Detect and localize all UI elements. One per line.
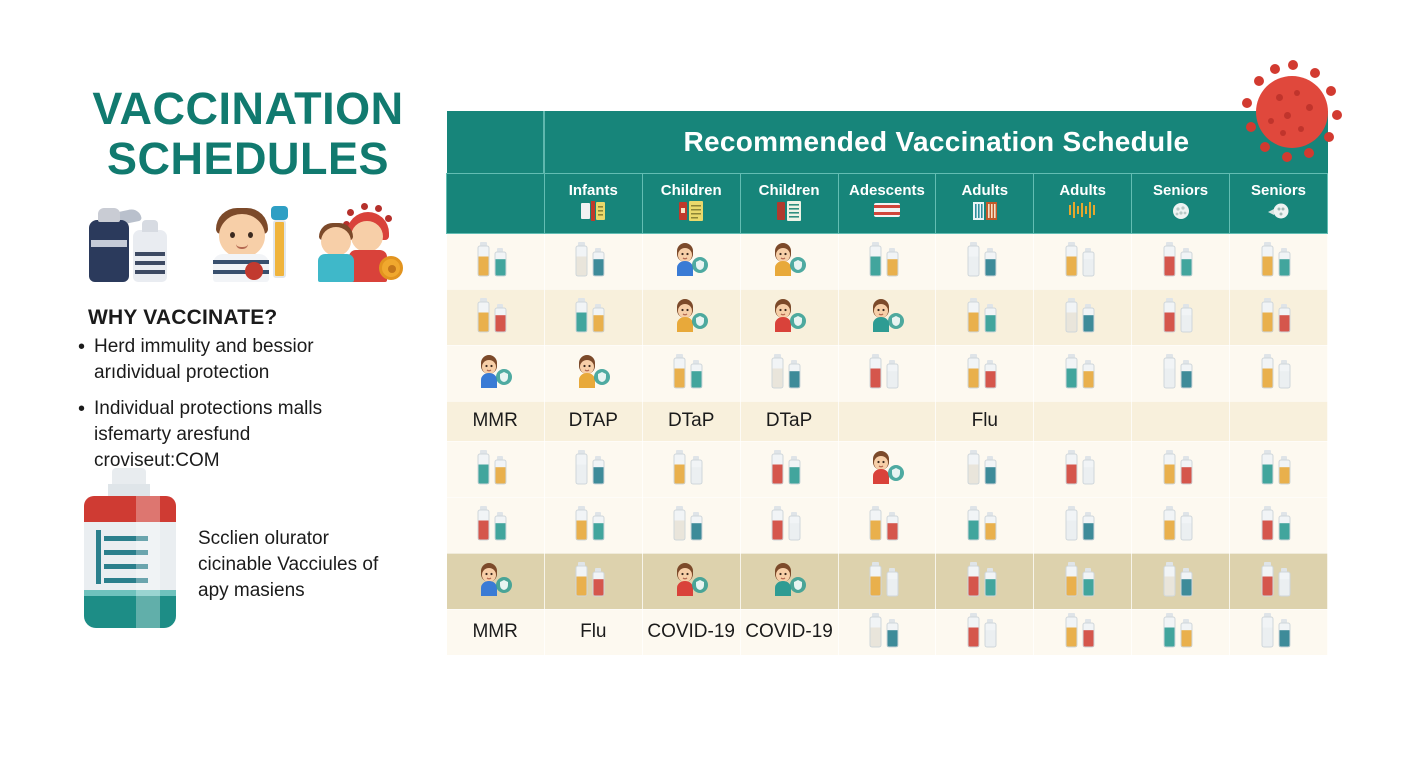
vial-pair-icon (965, 295, 1005, 335)
nurse-vial-icon[interactable] (642, 553, 740, 609)
coronavirus-icon (1240, 60, 1344, 164)
row-label-cell[interactable]: MMR (447, 609, 545, 655)
vial-pair-icon (1063, 351, 1103, 391)
vaccine-name-cell[interactable] (1132, 401, 1230, 441)
vial-pair-icon (867, 610, 907, 650)
vial-virus-icon[interactable] (1034, 609, 1132, 655)
vial-box-icon[interactable] (936, 497, 1034, 553)
vial-pair-icon[interactable] (838, 553, 936, 609)
vial-pair-icon (1161, 610, 1201, 650)
vaccination-schedule-table: Recommended Vaccination Schedule Infants… (446, 111, 1328, 656)
vial-leaf-icon (965, 447, 1005, 487)
vial-pair-icon[interactable] (936, 553, 1034, 609)
column-header-adults-1[interactable]: Adults (936, 173, 1034, 233)
child-drinking-icon[interactable] (447, 345, 545, 401)
column-header-label: Adescents (839, 183, 936, 198)
vaccine-name-cell[interactable] (1034, 401, 1132, 441)
table-row (447, 553, 1328, 609)
ribbon-vial-icon[interactable] (642, 441, 740, 497)
column-header-adescents[interactable]: Adescents (838, 173, 936, 233)
column-header-infants[interactable]: Infants (544, 173, 642, 233)
table-row (447, 441, 1328, 497)
bottle-shield-icon[interactable] (544, 553, 642, 609)
hero-illustrations (85, 196, 375, 282)
vial-pair-icon (1063, 503, 1103, 543)
vaccine-name-cell[interactable]: DTaP (740, 401, 838, 441)
table-row (447, 497, 1328, 553)
vial-shield-icon[interactable] (1132, 441, 1230, 497)
vial-pair-icon[interactable] (1132, 609, 1230, 655)
column-header-children-2[interactable]: Children (740, 173, 838, 233)
vial-pair-icon[interactable] (838, 233, 936, 289)
vial-virus-icon (1063, 610, 1103, 650)
baby-shield-icon[interactable] (544, 345, 642, 401)
why-vaccinate-list: • Herd immulity and bessior arıdividual … (78, 334, 378, 484)
table-header-row: Infants Children Children Adescents (447, 173, 1328, 233)
bandage-icon (839, 201, 936, 223)
vial-virus-icon (965, 239, 1005, 279)
table-banner-title: Recommended Vaccination Schedule (544, 111, 1327, 173)
vial-pair-icon[interactable] (1230, 345, 1328, 401)
vial-pair-icon (867, 351, 907, 391)
table-body: MMRDTAPDTaPDTaPFluMMRFluCOVID-19COVID-19 (447, 233, 1328, 655)
vial-pair-icon[interactable] (936, 609, 1034, 655)
row-label-cell[interactable]: MMR (447, 401, 545, 441)
banner-blank-cell (447, 111, 545, 173)
nurse-vial-icon (671, 559, 711, 599)
left-panel: VACCINATION SCHEDULES (0, 0, 446, 768)
list-item-text: Individual protectionѕ malls isfemarty a… (94, 396, 378, 474)
pouch-shield-icon (475, 503, 515, 543)
child-shield-icon (671, 239, 711, 279)
vaccine-name-cell[interactable]: Flu (936, 401, 1034, 441)
nurse-vial-icon[interactable] (740, 553, 838, 609)
vaccine-vial-icon (78, 468, 182, 630)
virus-cell-icon (1132, 201, 1229, 223)
vial-heart-icon (965, 351, 1005, 391)
page-title-line-2: SCHEDULES (78, 134, 418, 184)
nurse-vial-icon (769, 559, 809, 599)
vial-pair-icon[interactable] (1230, 441, 1328, 497)
vial-pair-icon[interactable] (447, 289, 545, 345)
bottle-shield-icon[interactable] (838, 497, 936, 553)
child-shield-icon (475, 559, 515, 599)
vial-pair-icon (1063, 295, 1103, 335)
vial-pair-icon[interactable] (740, 345, 838, 401)
vial-pair-icon (1063, 239, 1103, 279)
pulse-wave-icon (1034, 201, 1131, 223)
bottle-shield-icon[interactable] (642, 345, 740, 401)
list-item-text: Herd immulity and bessior arıdividual pr… (94, 334, 378, 386)
virus-cell-icon (1230, 201, 1327, 223)
boy-with-chart-icon[interactable] (642, 289, 740, 345)
bottle-shield-icon (769, 447, 809, 487)
dropper-lemon-icon (573, 447, 613, 487)
boy-with-syringe-illustration (203, 202, 299, 282)
vial-shield-icon[interactable] (1034, 553, 1132, 609)
vial-pair-icon (965, 610, 1005, 650)
vaccine-name-cell[interactable]: DTAP (544, 401, 642, 441)
column-header-adults-2[interactable]: Adults (1034, 173, 1132, 233)
infographic-canvas: VACCINATION SCHEDULES (0, 0, 1408, 768)
vial-pair-icon[interactable] (1132, 289, 1230, 345)
ribbon-vial-icon (671, 447, 711, 487)
bottle-shield-icon[interactable] (740, 441, 838, 497)
list-item: • Herd immulity and bessior arıdividual … (78, 334, 378, 386)
vial-shield-icon (1161, 447, 1201, 487)
vial-pair-icon (1259, 447, 1299, 487)
vial-pair-icon (1161, 559, 1201, 599)
vial-pair-icon[interactable] (1230, 233, 1328, 289)
column-header-seniors-1[interactable]: Seniors (1132, 173, 1230, 233)
bottle-shield-icon[interactable] (544, 497, 642, 553)
page-title-line-1: VACCINATION (92, 83, 403, 134)
dropper-bottle-icon[interactable] (544, 289, 642, 345)
vial-virus-icon[interactable] (936, 233, 1034, 289)
vaccine-name-cell[interactable]: COVID-19 (740, 609, 838, 655)
vial-pair-icon[interactable] (447, 233, 545, 289)
column-header-label: Adults (1034, 183, 1131, 198)
column-header-label: Seniors (1230, 183, 1327, 198)
vial-pair-icon[interactable] (1230, 497, 1328, 553)
vial-pair-icon[interactable] (1230, 609, 1328, 655)
why-vaccinate-heading: WHY VACCINATE? (88, 306, 277, 330)
vial-pair-icon (1161, 351, 1201, 391)
column-header-children-1[interactable]: Children (642, 173, 740, 233)
bottle-shield-icon (573, 559, 613, 599)
vial-pair-icon (1063, 447, 1103, 487)
vaccine-name-cell[interactable]: DTaP (642, 401, 740, 441)
bottle-shield-icon[interactable] (642, 497, 740, 553)
record-book-icon (741, 201, 838, 223)
vial-pair-icon[interactable] (1034, 497, 1132, 553)
person-shield-icon (867, 447, 907, 487)
table-row (447, 289, 1328, 345)
bottle-shield-icon (671, 503, 711, 543)
vial-shield-icon (1063, 559, 1103, 599)
vial-pair-icon[interactable] (1230, 553, 1328, 609)
table-row: MMRDTAPDTaPDTaPFlu (447, 401, 1328, 441)
column-header-label: Seniors (1132, 183, 1229, 198)
pouch-shield-icon[interactable] (447, 497, 545, 553)
dropper-lemon-icon[interactable] (544, 441, 642, 497)
column-header-label: Infants (545, 183, 642, 198)
list-item: • Individual protectionѕ malls isfemarty… (78, 396, 378, 474)
woman-shield-icon (867, 295, 907, 335)
vial-pair-icon[interactable] (1230, 289, 1328, 345)
child-drinking-icon (475, 351, 515, 391)
vial-pair-icon[interactable] (1132, 345, 1230, 401)
vial-pair-icon (965, 559, 1005, 599)
medicine-box-icon (475, 447, 515, 487)
person-shield-icon[interactable] (838, 441, 936, 497)
vaccine-name-cell[interactable]: COVID-19 (642, 609, 740, 655)
woman-shield-icon[interactable] (838, 289, 936, 345)
vial-pair-icon (1161, 239, 1201, 279)
syringe-vial-icon[interactable] (544, 233, 642, 289)
vial-pair-icon (1259, 559, 1299, 599)
record-book-icon (643, 201, 740, 223)
child-shield-icon[interactable] (447, 553, 545, 609)
vial-pair-icon[interactable] (1034, 441, 1132, 497)
bottle-shield-icon (769, 503, 809, 543)
syringe-vial-icon (573, 239, 613, 279)
children-with-virus-illustration (317, 202, 405, 282)
boy-with-chart-icon (671, 295, 711, 335)
vial-pair-icon (867, 239, 907, 279)
vial-pair-icon[interactable] (1132, 497, 1230, 553)
header-corner-cell (447, 173, 545, 233)
vial-pair-icon (1259, 239, 1299, 279)
vial-pair-icon[interactable] (1034, 345, 1132, 401)
vial-leaf-icon[interactable] (936, 441, 1034, 497)
chart-bars-icon (936, 201, 1033, 223)
medicine-box-icon[interactable] (447, 441, 545, 497)
page-title: VACCINATION SCHEDULES (78, 84, 418, 183)
column-header-label: Children (741, 183, 838, 198)
vial-pair-icon (769, 351, 809, 391)
bottle-shield-icon[interactable] (740, 497, 838, 553)
vaccine-name-cell[interactable]: Flu (544, 609, 642, 655)
vial-pair-icon[interactable] (838, 609, 936, 655)
vial-heart-icon[interactable] (936, 345, 1034, 401)
bullet-icon: • (78, 396, 94, 474)
column-header-label: Children (643, 183, 740, 198)
vial-pair-icon[interactable] (1132, 233, 1230, 289)
vial-pair-icon[interactable] (936, 289, 1034, 345)
table-row (447, 233, 1328, 289)
baby-shield-icon (573, 351, 613, 391)
bullet-icon: • (78, 334, 94, 386)
bottle-shield-icon (671, 351, 711, 391)
child-shield-icon[interactable] (642, 233, 740, 289)
table-row: MMRFluCOVID-19COVID-19 (447, 609, 1328, 655)
vial-pair-icon (1259, 610, 1299, 650)
vaccine-name-cell[interactable] (1230, 401, 1328, 441)
bottle-shield-icon (867, 503, 907, 543)
table-row (447, 345, 1328, 401)
vial-pair-icon (867, 559, 907, 599)
vial-pair-icon (1259, 351, 1299, 391)
vial-pair-icon[interactable] (1132, 553, 1230, 609)
vial-pair-icon[interactable] (1034, 233, 1132, 289)
child-shield-icon[interactable] (740, 233, 838, 289)
girl-with-vial-icon[interactable] (740, 289, 838, 345)
bottle-shield-icon (573, 503, 613, 543)
column-header-label: Adults (936, 183, 1033, 198)
vaccine-name-cell[interactable] (838, 401, 936, 441)
vaccine-card-icon (545, 201, 642, 223)
table-banner-row: Recommended Vaccination Schedule (447, 111, 1328, 173)
vial-pair-icon[interactable] (838, 345, 936, 401)
child-shield-icon (769, 239, 809, 279)
vial-pair-icon (1161, 503, 1201, 543)
vial-pair-icon (1161, 295, 1201, 335)
vial-pair-icon[interactable] (1034, 289, 1132, 345)
vial-pair-icon (1259, 503, 1299, 543)
vial-pair-icon (1259, 295, 1299, 335)
girl-with-vial-icon (769, 295, 809, 335)
vial-pair-icon (475, 295, 515, 335)
vaccine-bottles-illustration (89, 208, 169, 282)
dropper-bottle-icon (573, 295, 613, 335)
column-header-seniors-2[interactable]: Seniors (1230, 173, 1328, 233)
vial-caption: Scclien olurator cicinable Vacciules of … (198, 526, 398, 604)
vial-pair-icon (475, 239, 515, 279)
vial-box-icon (965, 503, 1005, 543)
